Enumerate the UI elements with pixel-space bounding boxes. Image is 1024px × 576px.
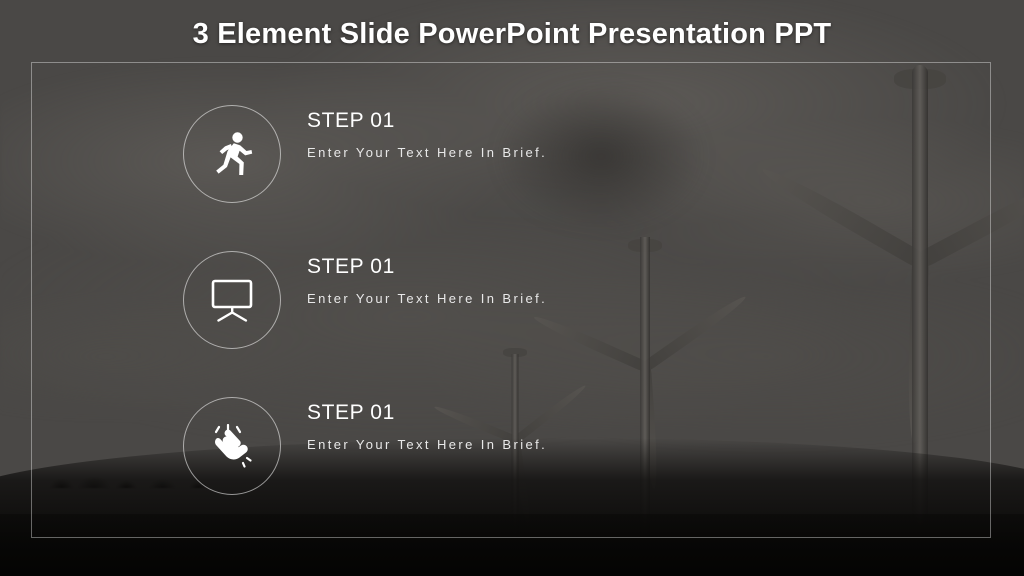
steps-list: STEP 01 Enter Your Text Here In Brief. S… xyxy=(183,105,803,543)
step-title: STEP 01 xyxy=(307,255,547,279)
slide: 3 Element Slide PowerPoint Presentation … xyxy=(0,0,1024,576)
running-person-icon xyxy=(210,131,254,177)
step-title: STEP 01 xyxy=(307,401,547,425)
step-text-block: STEP 01 Enter Your Text Here In Brief. xyxy=(307,401,547,452)
step-item[interactable]: STEP 01 Enter Your Text Here In Brief. xyxy=(183,397,803,495)
step-icon-circle xyxy=(183,105,281,203)
step-text-block: STEP 01 Enter Your Text Here In Brief. xyxy=(307,255,547,306)
step-icon-circle xyxy=(183,397,281,495)
step-icon-circle xyxy=(183,251,281,349)
step-title: STEP 01 xyxy=(307,109,547,133)
slide-title: 3 Element Slide PowerPoint Presentation … xyxy=(0,18,1024,51)
step-text-block: STEP 01 Enter Your Text Here In Brief. xyxy=(307,109,547,160)
step-description: Enter Your Text Here In Brief. xyxy=(307,145,547,160)
step-item[interactable]: STEP 01 Enter Your Text Here In Brief. xyxy=(183,105,803,203)
clapping-hands-icon xyxy=(209,424,255,468)
presentation-board-icon xyxy=(209,278,255,322)
step-description: Enter Your Text Here In Brief. xyxy=(307,437,547,452)
step-item[interactable]: STEP 01 Enter Your Text Here In Brief. xyxy=(183,251,803,349)
step-description: Enter Your Text Here In Brief. xyxy=(307,291,547,306)
